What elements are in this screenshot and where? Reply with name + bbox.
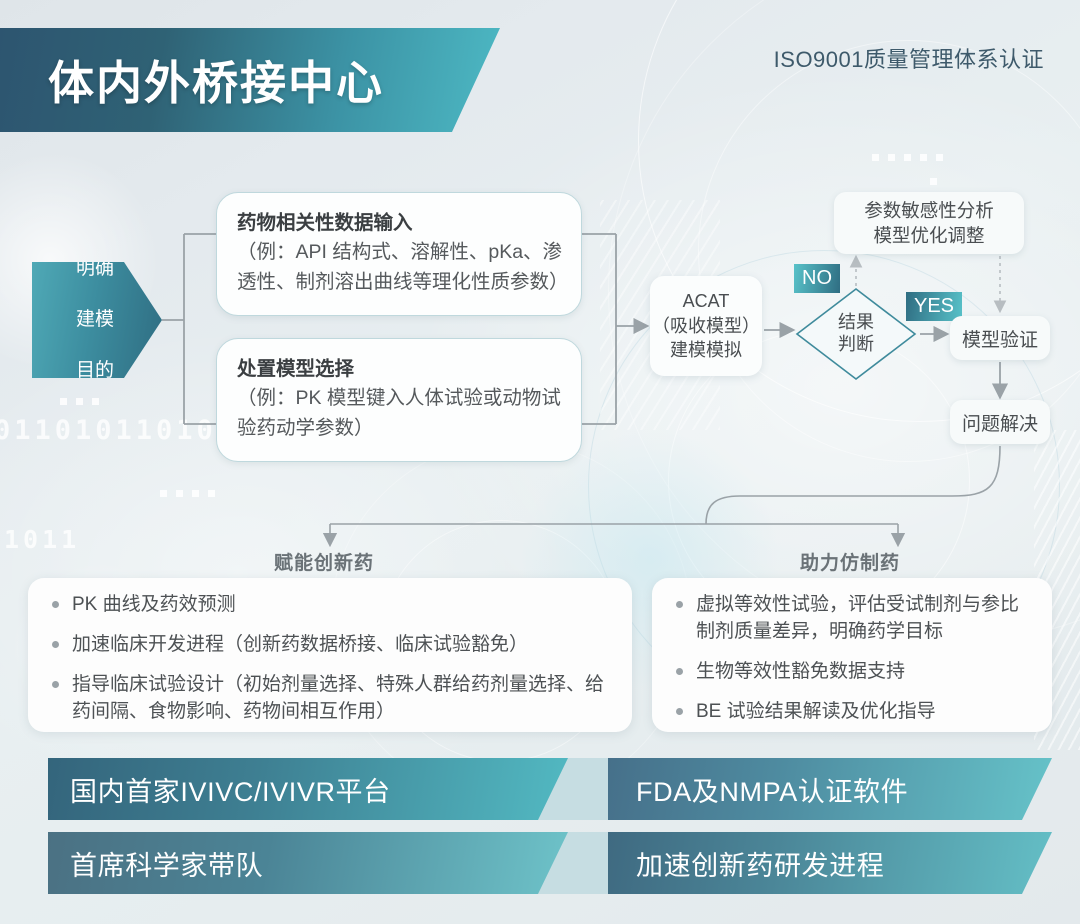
sensitivity-analysis-node[interactable]: 参数敏感性分析 模型优化调整: [834, 192, 1024, 254]
sensitivity-line2: 模型优化调整: [873, 225, 984, 246]
acat-line1: ACAT: [683, 291, 730, 311]
infographic-canvas: 0110101101010 1011 体内外桥接中心 ISO9001质量管理体系…: [0, 0, 1080, 924]
badge-yes: YES: [906, 292, 962, 321]
acat-simulation-node[interactable]: ACAT （吸收模型） 建模模拟: [650, 276, 762, 376]
decision-line2: 判断: [838, 334, 874, 356]
footer-banner-1[interactable]: 国内首家IVIVC/IVIVR平台: [48, 758, 568, 820]
sensitivity-line1: 参数敏感性分析: [864, 200, 994, 221]
decision-node[interactable]: 结果 判断: [794, 286, 918, 382]
list-item: PK 曲线及药效预测: [46, 592, 614, 619]
outcome-right-panel: 虚拟等效性试验，评估受试制剂与参比制剂质量差异，明确药学目标 生物等效性豁免数据…: [652, 578, 1052, 732]
decision-line1: 结果: [838, 312, 874, 334]
footer-banner-1-label: 国内首家IVIVC/IVIVR平台: [70, 770, 391, 809]
list-item: 生物等效性豁免数据支持: [670, 659, 1034, 686]
outcome-right-list: 虚拟等效性试验，评估受试制剂与参比制剂质量差异，明确药学目标 生物等效性豁免数据…: [670, 592, 1034, 726]
acat-line2: （吸收模型）: [652, 316, 760, 336]
footer-banner-3-label: 首席科学家带队: [70, 844, 263, 883]
input-box-model-selection-body: （例：PK 模型键入人体试验或动物试验药动学参数）: [237, 384, 563, 443]
input-box-drug-data-heading: 药物相关性数据输入: [237, 209, 563, 238]
input-box-model-selection-heading: 处置模型选择: [237, 355, 563, 384]
outcome-right-title: 助力仿制药: [800, 548, 900, 575]
list-item: 指导临床试验设计（初始剂量选择、特殊人群给药剂量选择、给药间隔、食物影响、药物间…: [46, 672, 614, 726]
problem-resolution-node[interactable]: 问题解决: [950, 400, 1050, 444]
badge-no: NO: [794, 264, 840, 293]
footer-banner-2[interactable]: FDA及NMPA认证软件: [608, 758, 1052, 820]
footer-banner-3[interactable]: 首席科学家带队: [48, 832, 568, 894]
model-validation-node[interactable]: 模型验证: [950, 316, 1050, 360]
footer-banner-2-label: FDA及NMPA认证软件: [636, 770, 908, 809]
footer-banner-4[interactable]: 加速创新药研发进程: [608, 832, 1052, 894]
list-item: 虚拟等效性试验，评估受试制剂与参比制剂质量差异，明确药学目标: [670, 592, 1034, 646]
acat-line3: 建模模拟: [670, 340, 742, 360]
input-box-drug-data[interactable]: 药物相关性数据输入 （例：API 结构式、溶解性、pKa、渗透性、制剂溶出曲线等…: [216, 192, 582, 316]
list-item: BE 试验结果解读及优化指导: [670, 699, 1034, 726]
flow-start-line2: 建模: [76, 307, 114, 332]
footer-banner-4-label: 加速创新药研发进程: [636, 844, 884, 883]
outcome-left-list: PK 曲线及药效预测 加速临床开发进程（创新药数据桥接、临床试验豁免） 指导临床…: [46, 592, 614, 726]
input-box-model-selection[interactable]: 处置模型选择 （例：PK 模型键入人体试验或动物试验药动学参数）: [216, 338, 582, 462]
input-box-drug-data-body: （例：API 结构式、溶解性、pKa、渗透性、制剂溶出曲线等理化性质参数）: [237, 238, 563, 297]
outcome-left-title: 赋能创新药: [274, 548, 374, 575]
outcome-left-panel: PK 曲线及药效预测 加速临床开发进程（创新药数据桥接、临床试验豁免） 指导临床…: [28, 578, 632, 732]
list-item: 加速临床开发进程（创新药数据桥接、临床试验豁免）: [46, 632, 614, 659]
